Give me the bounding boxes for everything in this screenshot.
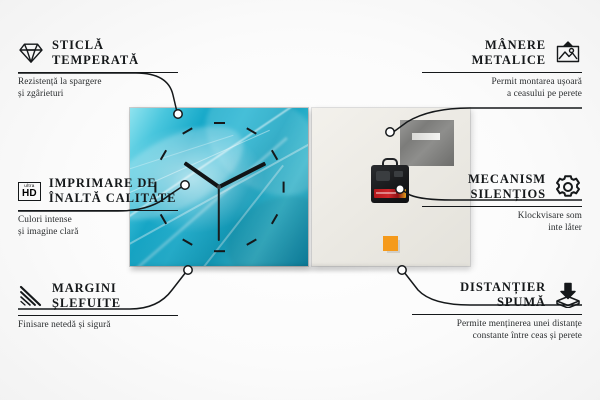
arrow-down-block-icon: [554, 282, 582, 308]
clock-hour-mark: [214, 122, 225, 124]
hanger-slot: [412, 133, 440, 140]
picture-hanger-icon: [554, 41, 582, 65]
feature-subtitle: Rezistență la spargere și zgârieturi: [18, 76, 178, 101]
title-rule: [422, 206, 582, 207]
feature-title: MECANISM SILENȚIOS: [468, 172, 546, 203]
title-rule: [412, 314, 582, 315]
clock-hour-mark: [282, 181, 284, 192]
feature-title: DISTANȚIER SPUMĂ: [460, 280, 546, 311]
title-rule: [422, 72, 582, 73]
battery: [374, 189, 406, 198]
clock-hour-mark: [214, 250, 225, 252]
feature-title: IMPRIMARE DE ÎNALTĂ CALITATE: [49, 176, 177, 207]
feature-subtitle: Permit montarea ușoară a ceasului pe per…: [422, 76, 582, 101]
feature-subtitle: Permite menținerea unei distanțe constan…: [412, 318, 582, 343]
clock-second-hand: [218, 187, 220, 241]
product-shadow: [130, 266, 470, 271]
infographic-canvas: STICLĂ TEMPERATĂ Rezistență la spargere …: [0, 0, 600, 400]
mechanism-detail: [394, 171, 403, 177]
diamond-icon: [18, 42, 44, 64]
foam-spacer-square: [383, 236, 398, 251]
mechanism-detail: [376, 171, 390, 181]
feature-tempered-glass: STICLĂ TEMPERATĂ Rezistență la spargere …: [18, 38, 178, 100]
battery-label-stripe: [376, 192, 396, 194]
product-image: [130, 108, 470, 268]
feature-silent-mechanism: MECANISM SILENȚIOS Klockvisare som inte …: [422, 172, 582, 234]
title-rule: [18, 72, 178, 73]
metal-hanger-plate: [400, 120, 454, 166]
clock-center-pivot: [217, 185, 221, 189]
gear-icon: [554, 174, 582, 200]
feature-foam-spacer: DISTANȚIER SPUMĂ Permite menținerea unei…: [412, 280, 582, 342]
feature-high-quality-print: ultra HD IMPRIMARE DE ÎNALTĂ CALITATE Cu…: [18, 176, 178, 238]
diagonal-lines-icon: [18, 285, 44, 307]
ultra-hd-badge-icon: ultra HD: [18, 182, 41, 201]
clock-mechanism: [371, 165, 409, 203]
feature-title: STICLĂ TEMPERATĂ: [52, 38, 139, 69]
title-rule: [18, 315, 178, 316]
mechanism-hanger-loop: [382, 158, 398, 167]
feature-title: MÂNERE METALICE: [472, 38, 546, 69]
feature-subtitle: Culori intense și imagine clară: [18, 214, 178, 239]
feature-polished-edges: MARGINI ȘLEFUITE Finisare netedă și sigu…: [18, 281, 178, 331]
feature-subtitle: Klockvisare som inte låter: [422, 210, 582, 235]
feature-subtitle: Finisare netedă și sigură: [18, 319, 178, 331]
title-rule: [18, 210, 178, 211]
feature-metal-handles: MÂNERE METALICE Permit montarea ușoară a…: [422, 38, 582, 100]
feature-title: MARGINI ȘLEFUITE: [52, 281, 121, 312]
